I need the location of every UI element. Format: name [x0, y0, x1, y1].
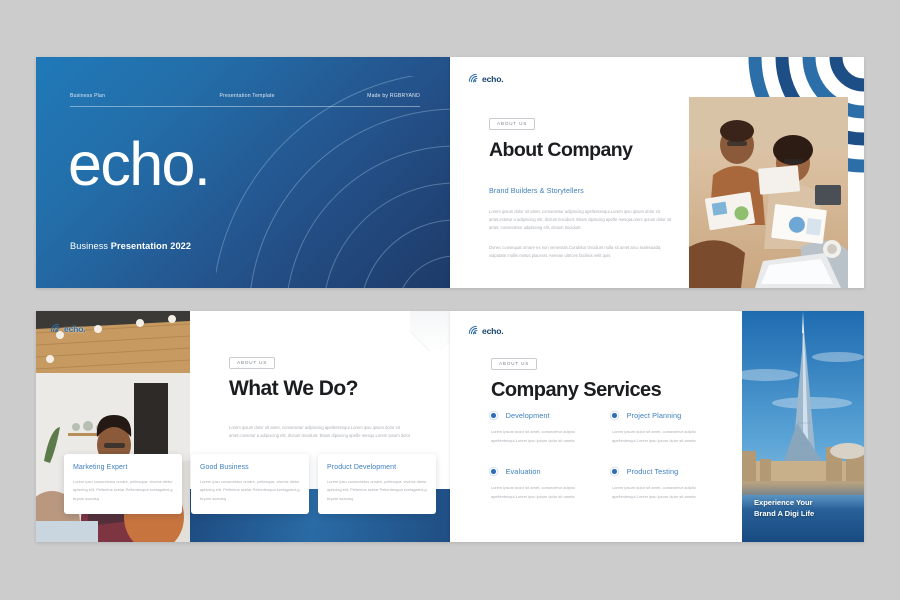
- service-text: Lorem ipsum dolor sit amet, consectetur …: [612, 484, 719, 501]
- logo[interactable]: echo.: [468, 73, 503, 84]
- concentric-rings-decoration: [216, 76, 450, 288]
- cover-background: Business Plan Presentation Template Made…: [36, 57, 450, 288]
- echo-wave-icon: [468, 73, 479, 84]
- photo-caption: Experience Your Brand A Digi Life: [754, 498, 814, 520]
- logo[interactable]: echo.: [50, 323, 85, 334]
- services-heading-block: ABOUT US Company Services: [491, 352, 717, 402]
- feature-card-title: Marketing Expert: [73, 464, 173, 471]
- logo-text: echo.: [64, 324, 85, 334]
- echo-wave-dot: [474, 80, 476, 82]
- feature-card-title: Product Development: [327, 464, 427, 471]
- logo[interactable]: echo.: [468, 325, 503, 336]
- about-content: ABOUT US About Company Brand Builders & …: [489, 112, 679, 260]
- slide-about-company[interactable]: echo. ABOUT US About Company Brand Build…: [450, 57, 864, 288]
- feature-card[interactable]: Good Business Lorem ipsu consectetus orn…: [191, 454, 309, 514]
- bullet-dot-icon: [612, 469, 617, 474]
- slide-company-services[interactable]: echo. ABOUT US Company Services Developm…: [450, 311, 864, 542]
- echo-wave-dot: [474, 332, 476, 334]
- service-text: Lorem ipsum dolor sit amet, consectetur …: [491, 484, 598, 501]
- about-title: About Company: [489, 139, 679, 162]
- photo-caption-line2: Brand A Digi Life: [754, 509, 814, 520]
- header-divider: [70, 106, 420, 107]
- echo-wave-icon: [468, 325, 479, 336]
- page-fold-decoration: [410, 311, 450, 351]
- slide-cover[interactable]: Business Plan Presentation Template Made…: [36, 57, 450, 288]
- about-kicker: Brand Builders & Storytellers: [489, 186, 679, 195]
- what-we-do-content: ABOUT US What We Do? Lorem ipsum dolor s…: [229, 351, 423, 440]
- echo-wave-dot: [56, 330, 58, 332]
- bullet-dot-icon: [491, 413, 496, 418]
- bullet-dot-icon: [491, 469, 496, 474]
- service-text: Lorem ipsum dolor sit amet, consectetur …: [491, 428, 598, 445]
- slide-what-we-do[interactable]: echo. ABOUT US What We Do? Lorem ipsum d…: [36, 311, 450, 542]
- services-grid: Development Lorem ipsum dolor sit amet, …: [491, 411, 719, 501]
- cover-header: Business Plan Presentation Template Made…: [70, 93, 420, 107]
- echo-wave-icon: [50, 323, 61, 334]
- cover-subtitle: Business Presentation 2022: [70, 241, 191, 251]
- slide-deck-preview: Business Plan Presentation Template Made…: [0, 0, 900, 600]
- feature-card-text: Lorem ipsu consectetus ornare, pellesqua…: [327, 478, 427, 503]
- logo-text: echo.: [482, 74, 503, 84]
- service-text: Lorem ipsum dolor sit amet, consectetur …: [612, 428, 719, 445]
- logo-text: echo.: [482, 326, 503, 336]
- service-name: Product Testing: [627, 467, 679, 476]
- skyscraper-photo: Experience Your Brand A Digi Life: [742, 311, 864, 542]
- service-item[interactable]: Product Testing Lorem ipsum dolor sit am…: [612, 467, 719, 501]
- feature-card[interactable]: Marketing Expert Lorem ipsu consectetus …: [64, 454, 182, 514]
- cover-subtitle-bold: Presentation 2022: [111, 241, 191, 251]
- feature-card-text: Lorem ipsu consectetus ornare, pellesqua…: [73, 478, 173, 503]
- services-title: Company Services: [491, 379, 717, 402]
- about-us-badge: ABOUT US: [491, 358, 537, 370]
- header-center-label: Presentation Template: [220, 93, 275, 99]
- what-we-do-paragraph: Lorem ipsum dolor sit amet, consectetur …: [229, 424, 423, 441]
- cover-title: echo.: [68, 135, 209, 194]
- header-left-label: Business Plan: [70, 93, 105, 99]
- about-paragraph-2: Donec consequat ornare ex non venenatis.…: [489, 244, 679, 261]
- feature-card-title: Good Business: [200, 464, 300, 471]
- header-right-label: Made by RGBRYAND: [367, 93, 420, 99]
- service-item[interactable]: Evaluation Lorem ipsum dolor sit amet, c…: [491, 467, 598, 501]
- feature-card-text: Lorem ipsu consectetus ornare, pellesqua…: [200, 478, 300, 503]
- team-meeting-photo: [689, 97, 848, 288]
- feature-card[interactable]: Product Development Lorem ipsu consectet…: [318, 454, 436, 514]
- feature-card-list: Marketing Expert Lorem ipsu consectetus …: [64, 454, 436, 514]
- service-item[interactable]: Project Planning Lorem ipsum dolor sit a…: [612, 411, 719, 445]
- service-name: Evaluation: [506, 467, 541, 476]
- about-us-badge: ABOUT US: [229, 357, 275, 369]
- service-name: Project Planning: [627, 411, 682, 420]
- about-us-badge: ABOUT US: [489, 118, 535, 130]
- photo-caption-line1: Experience Your: [754, 498, 814, 509]
- what-we-do-title: What We Do?: [229, 377, 423, 401]
- service-item[interactable]: Development Lorem ipsum dolor sit amet, …: [491, 411, 598, 445]
- bullet-dot-icon: [612, 413, 617, 418]
- cover-subtitle-light: Business: [70, 241, 111, 251]
- service-name: Development: [506, 411, 550, 420]
- about-paragraph-1: Lorem ipsum dolor sit amet, consectetur …: [489, 208, 679, 233]
